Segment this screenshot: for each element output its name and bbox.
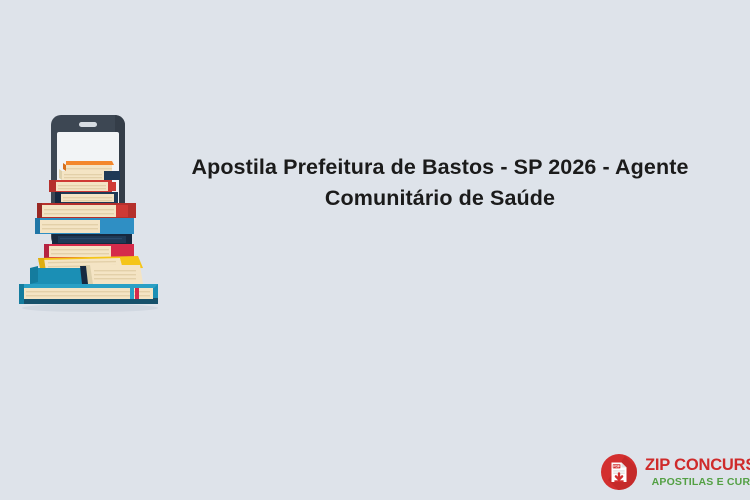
- book-stack-illustration: [8, 108, 183, 318]
- product-banner: Apostila Prefeitura de Bastos - SP 2026 …: [0, 0, 750, 500]
- book-navy: [55, 192, 118, 203]
- brand-logo[interactable]: PDF ZIP CONCURSOS APOSTILAS E CURSOS: [600, 452, 742, 492]
- brand-text-block: ZIP CONCURSOS APOSTILAS E CURSOS: [645, 457, 750, 487]
- product-title: Apostila Prefeitura de Bastos - SP 2026 …: [170, 152, 710, 214]
- brand-name: ZIP CONCURSOS: [645, 457, 750, 474]
- book-orange-top: [63, 161, 114, 171]
- book-darknavy-thin: [52, 234, 132, 244]
- svg-text:PDF: PDF: [613, 465, 620, 469]
- book-darkred-wide: [37, 203, 136, 218]
- pdf-download-icon: PDF: [600, 453, 638, 491]
- book-red-upper: [49, 180, 116, 192]
- book-blue-wide: [35, 218, 134, 234]
- book-base-teal: [19, 284, 158, 304]
- book-crimson: [44, 244, 134, 258]
- brand-tagline: APOSTILAS E CURSOS: [645, 477, 750, 488]
